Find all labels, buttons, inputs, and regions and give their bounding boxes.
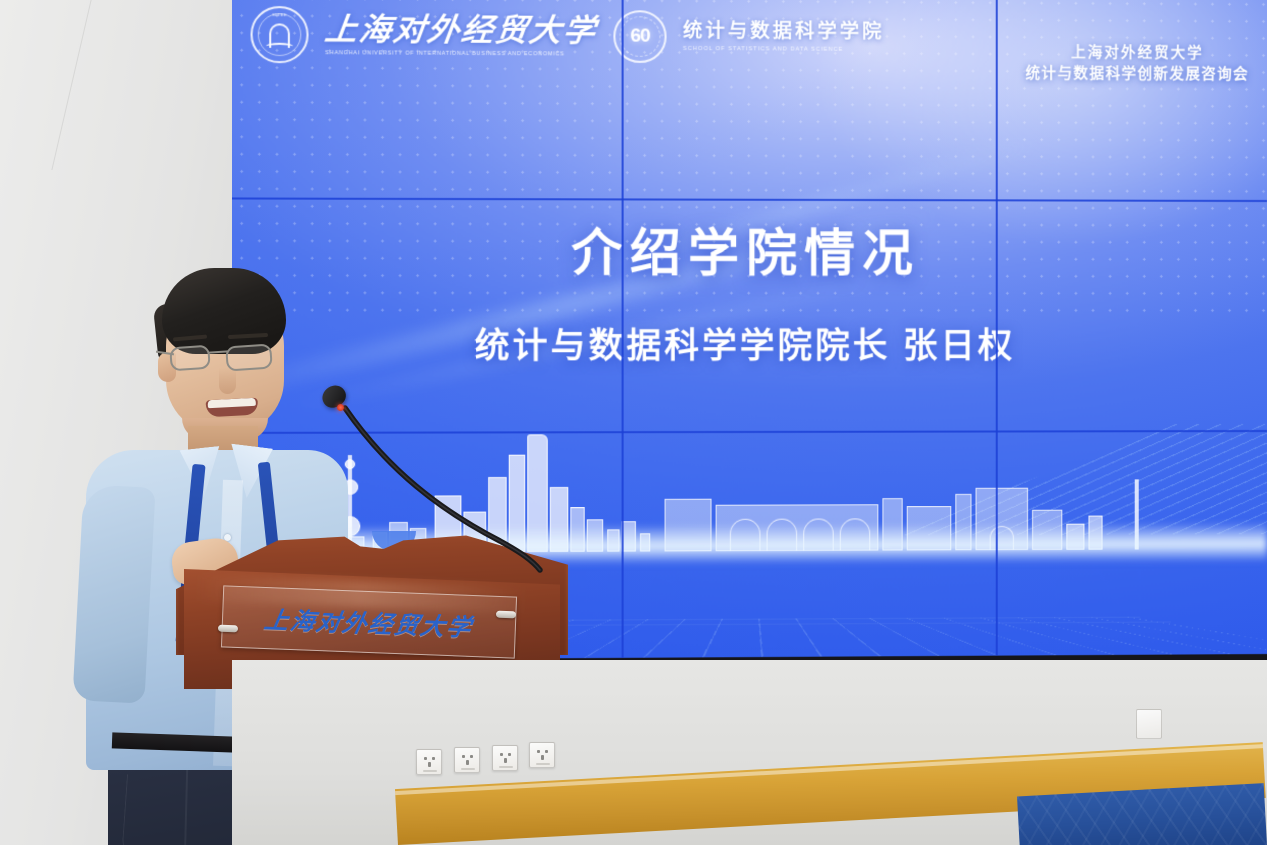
speaker-hair (162, 268, 286, 354)
event-line-2: 统计与数据科学创新发展咨询会 (1025, 64, 1249, 86)
slide-title: 介绍学院情况 (232, 212, 1267, 286)
wall-seam-line (0, 0, 92, 170)
school-name-en: SCHOOL OF STATISTICS AND DATA SCIENCE (683, 46, 885, 53)
school-name-cn: 统计与数据科学学院 (683, 21, 885, 43)
university-name-cn: 上海对外经贸大学 (323, 13, 599, 48)
podium-nameplate-text: 上海对外经贸大学 (220, 599, 518, 645)
university-seal-icon: SUIBE (251, 6, 309, 63)
nameplate-standoff (218, 625, 238, 633)
conference-presentation-photo: SUIBE 上海对外经贸大学 SHANGHAI UNIVERSITY OF IN… (0, 0, 1267, 845)
microphone-indicator-led (337, 404, 344, 411)
seal-book-shape (266, 43, 293, 50)
event-line-1: 上海对外经贸大学 (1025, 43, 1249, 65)
nameplate-standoff (496, 611, 516, 619)
power-socket[interactable] (492, 745, 518, 771)
speaker-sleeve (72, 484, 155, 703)
podium-nameplate: 上海对外经贸大学 (221, 585, 517, 658)
panel-seam-vertical (622, 0, 624, 658)
university-name-en: SHANGHAI UNIVERSITY OF INTERNATIONAL BUS… (325, 50, 597, 57)
university-name-block: 上海对外经贸大学 SHANGHAI UNIVERSITY OF INTERNAT… (325, 13, 597, 58)
panel-seam-vertical (996, 0, 998, 656)
anniversary-number: 60 (630, 25, 650, 47)
eyeglasses-lens-left (169, 345, 211, 372)
power-socket[interactable] (529, 742, 555, 768)
slide-header-logos: SUIBE 上海对外经贸大学 SHANGHAI UNIVERSITY OF IN… (251, 6, 885, 66)
event-name-block: 上海对外经贸大学 统计与数据科学创新发展咨询会 (1025, 43, 1249, 86)
power-socket[interactable] (1136, 709, 1162, 739)
slide-subtitle: 统计与数据科学学院院长 张日权 (232, 318, 1267, 368)
power-socket[interactable] (454, 747, 480, 773)
seal-ring-text: SUIBE (272, 12, 287, 17)
power-socket[interactable] (416, 749, 442, 775)
school-name-block: 统计与数据科学学院 SCHOOL OF STATISTICS AND DATA … (683, 21, 885, 53)
